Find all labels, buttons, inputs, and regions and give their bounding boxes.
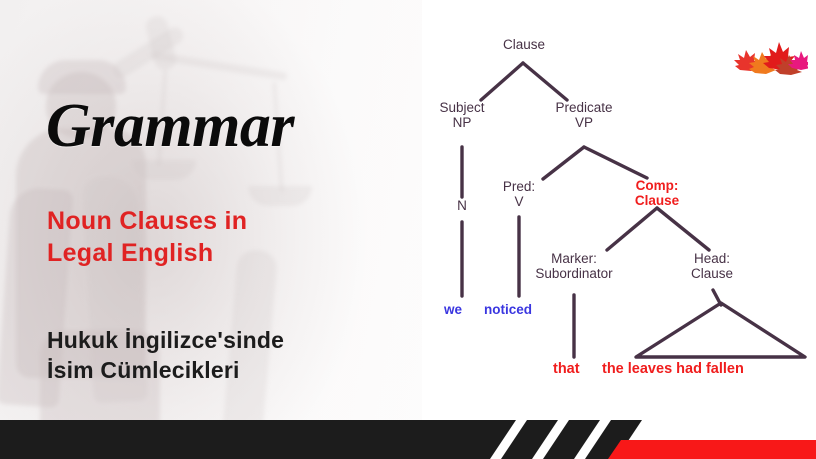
subtitle-english-line-2: Legal English [47, 239, 213, 267]
tree-terminal-embedded-clause: the leaves had fallen [602, 361, 744, 377]
tree-terminal-we: we [444, 302, 462, 317]
tree-terminal-noticed: noticed [484, 302, 532, 317]
subtitle-turkish-line-2: İsim Cümlecikleri [47, 357, 240, 383]
embedded-clause-triangle [636, 303, 805, 357]
bottom-decorative-bar [0, 409, 816, 459]
slide-canvas: Grammar Noun Clauses in Legal English Hu… [0, 0, 816, 459]
tree-node-pred-v: Pred: V [492, 179, 546, 209]
tree-node-subject: Subject NP [425, 100, 499, 130]
tree-node-clause: Clause [491, 37, 557, 52]
page-title: Grammar [46, 95, 294, 157]
tree-node-predicate: Predicate VP [544, 100, 624, 130]
left-title-panel: Grammar Noun Clauses in Legal English Hu… [0, 0, 422, 459]
tree-node-head: Head: Clause [674, 251, 750, 281]
tree-terminal-that: that [553, 361, 580, 377]
bar-red-block [608, 440, 816, 459]
subtitle-turkish: Hukuk İngilizce'sinde İsim Cümlecikleri [47, 326, 284, 386]
tree-node-comp-clause: Comp: Clause [621, 178, 693, 208]
maple-leaves-icon [722, 38, 808, 88]
tree-node-marker: Marker: Subordinator [519, 251, 629, 281]
tree-node-noun: N [444, 198, 480, 213]
subtitle-english: Noun Clauses in Legal English [47, 205, 247, 269]
subtitle-turkish-line-1: Hukuk İngilizce'sinde [47, 327, 284, 353]
subtitle-english-line-1: Noun Clauses in [47, 207, 247, 235]
bar-black-block [0, 420, 516, 459]
